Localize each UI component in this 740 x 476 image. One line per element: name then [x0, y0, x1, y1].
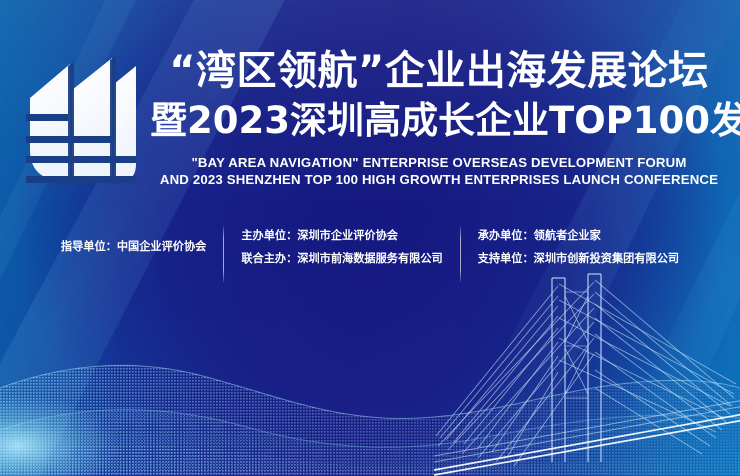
title-english-line1: "BAY AREA NAVIGATION" ENTERPRISE OVERSEA…: [150, 155, 728, 172]
organizer-column-guidance: 指导单位：中国企业评价协会: [61, 224, 206, 258]
organizer-line-organizer: 承办单位：领航者企业家: [478, 224, 679, 247]
organizer-line-cohost: 联合主办：深圳市前海数据服务有限公司: [241, 247, 442, 270]
cable-stayed-bridge-illustration: [434, 256, 740, 476]
bay-area-navigation-logo: [18, 52, 146, 194]
title-english-wrap: "BAY AREA NAVIGATION" ENTERPRISE OVERSEA…: [150, 155, 728, 188]
organizer-divider-1: [223, 226, 224, 282]
event-poster: “湾区领航”企业出海发展论坛 暨2023深圳高成长企业TOP100发布会 "BA…: [0, 0, 740, 476]
title-english-line2: AND 2023 SHENZHEN TOP 100 HIGH GROWTH EN…: [150, 172, 728, 189]
title-block: “湾区领航”企业出海发展论坛 暨2023深圳高成长企业TOP100发布会 "BA…: [150, 46, 728, 188]
organizer-column-host: 主办单位：深圳市企业评价协会 联合主办：深圳市前海数据服务有限公司: [241, 224, 442, 270]
organizer-line-guidance: 指导单位：中国企业评价协会: [61, 235, 206, 258]
title-chinese-line2: 暨2023深圳高成长企业TOP100发布会: [150, 96, 728, 146]
title-chinese-line1: “湾区领航”企业出海发展论坛: [150, 46, 728, 96]
organizer-line-host: 主办单位：深圳市企业评价协会: [241, 224, 442, 247]
